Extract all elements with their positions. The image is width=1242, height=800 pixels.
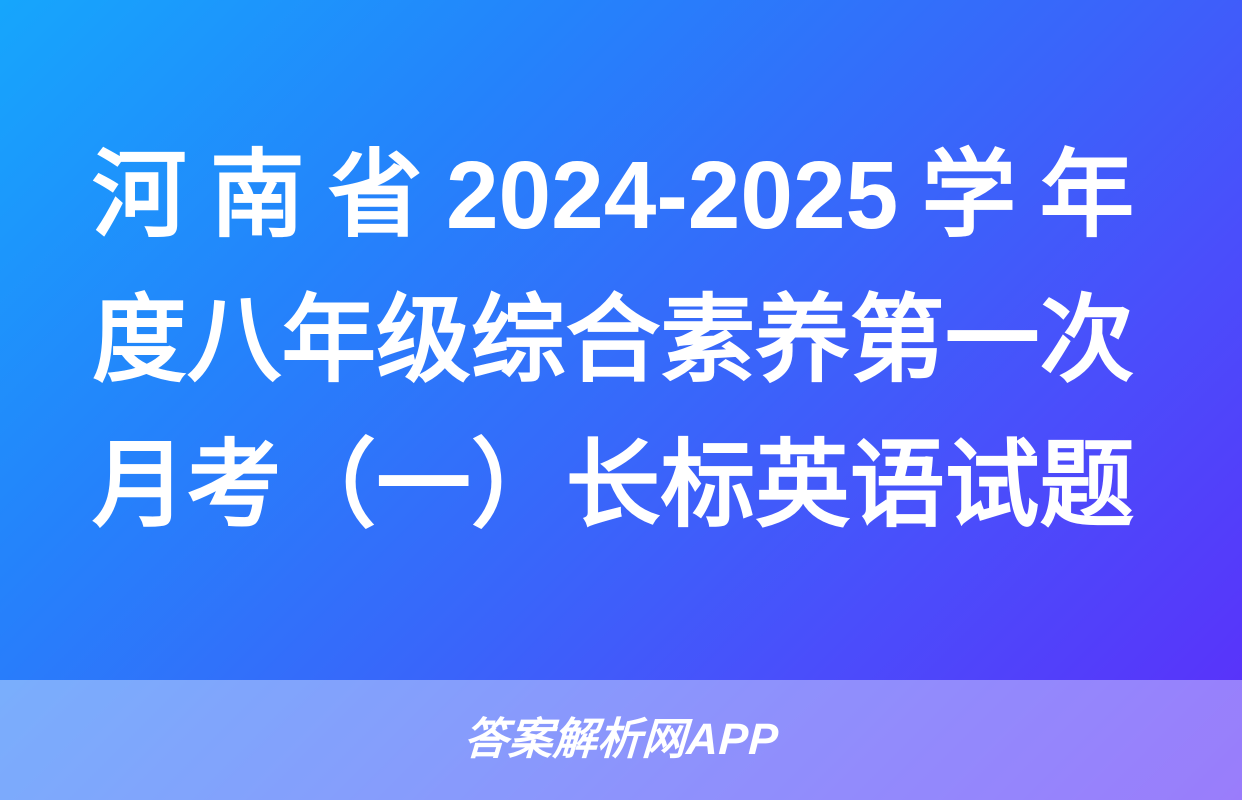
- brand-watermark: 答案解析网APP: [463, 718, 780, 762]
- title-line-3: 月考（一）长标英语试题: [92, 413, 1134, 558]
- title-line-1: 河南省2024-2025学年: [92, 123, 1134, 268]
- headline-block: 河南省2024-2025学年 度八年级综合素养第一次 月考（一）长标英语试题: [0, 0, 1242, 680]
- exam-title-card: 河南省2024-2025学年 度八年级综合素养第一次 月考（一）长标英语试题 答…: [0, 0, 1242, 800]
- footer-band: 答案解析网APP: [0, 680, 1242, 800]
- title-line-2: 度八年级综合素养第一次: [92, 268, 1134, 413]
